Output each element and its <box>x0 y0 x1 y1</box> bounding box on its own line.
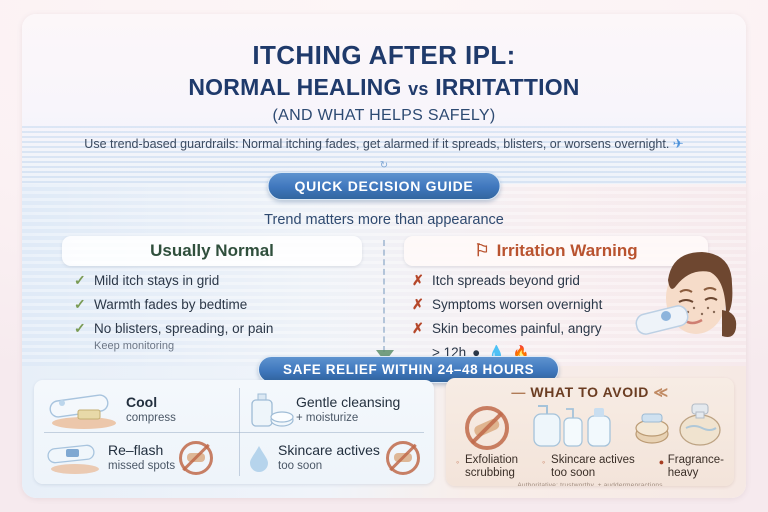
title-line-2: NORMAL HEALING vs IRRITATTION <box>22 74 746 101</box>
perfume-bottle-icon <box>672 398 728 453</box>
avoid-item-line1: Exfoliation <box>465 454 518 466</box>
cross-icon: ✗ <box>412 272 432 289</box>
check-icon: ✓ <box>74 320 94 337</box>
quick-decision-section: QUICK DECISION GUIDE Trend matters more … <box>22 184 746 366</box>
relief-cell-sub: missed spots <box>108 458 175 474</box>
relief-cell-sub: compress <box>126 410 176 426</box>
infographic-canvas: ITCHING AFTER IPL: NORMAL HEALING vs IRR… <box>0 0 768 512</box>
hero-section: ITCHING AFTER IPL: NORMAL HEALING vs IRR… <box>22 14 746 184</box>
list-item-label: Symptoms worsen overnight <box>432 296 602 313</box>
relief-cell-gentle-cleansing: Gentle cleansing + moisturize <box>246 390 430 430</box>
avoid-item-line2: too soon <box>551 467 595 479</box>
avoid-item-label: Exfoliation scrubbing <box>465 454 518 480</box>
title-line-2-main: NORMAL HEALING <box>188 74 401 100</box>
avoid-item: ◦ Skincare actives too soon <box>542 454 635 480</box>
column-divider <box>383 240 385 352</box>
panel-h-divider <box>44 432 424 433</box>
what-to-avoid-heading: WHAT TO AVOID <box>530 384 649 400</box>
title-line-2-vs: vs <box>408 79 428 99</box>
relief-cell-title: Re–flash <box>108 442 163 458</box>
panel-v-divider <box>239 388 240 476</box>
pump-bottles-icon <box>528 400 626 459</box>
bottle-jar-icon <box>246 390 296 430</box>
usually-normal-list: ✓ Mild itch stays in grid ✓ Warmth fades… <box>74 272 374 352</box>
relief-cell-label: Re–flash missed spots <box>108 442 175 474</box>
relief-cell-title: Cool <box>126 394 157 410</box>
usually-normal-note: Keep monitoring <box>94 340 374 352</box>
relief-cell-sub: too soon <box>278 458 380 474</box>
list-item-label: Mild itch stays in grid <box>94 272 219 289</box>
cross-icon: ✗ <box>412 320 432 337</box>
avoid-item-line1: Fragrance- <box>668 454 724 466</box>
check-icon: ✓ <box>74 272 94 289</box>
airplane-icon: ✈ <box>673 136 684 151</box>
avoid-item-label: Skincare actives too soon <box>551 454 635 480</box>
ice-roller-icon <box>42 390 126 430</box>
list-item-label: Itch spreads beyond grid <box>432 272 580 289</box>
irritation-warning-heading: Irritation Warning <box>497 241 638 261</box>
title-line-1: ITCHING AFTER IPL: <box>22 40 746 71</box>
relief-cell-cool-compress: Cool compress <box>42 390 238 430</box>
list-item: ✓ Mild itch stays in grid <box>74 272 374 289</box>
list-item: ✓ Warmth fades by bedtime <box>74 296 374 313</box>
list-item: ✓ No blisters, spreading, or pain <box>74 320 374 337</box>
header-dash: — <box>511 384 526 400</box>
subtitle-text: Use trend-based guardrails: Normal itchi… <box>84 137 669 151</box>
avoid-item: ◦ Exfoliation scrubbing <box>456 454 518 480</box>
list-item-label: Warmth fades by bedtime <box>94 296 247 313</box>
quick-decision-tagline: Trend matters more than appearance <box>22 212 746 228</box>
subtitle: Use trend-based guardrails: Normal itchi… <box>82 134 686 176</box>
avoid-item-line1: Skincare actives <box>551 454 635 466</box>
cross-icon: ✗ <box>412 296 432 313</box>
avoid-item-line2: scrubbing <box>465 467 515 479</box>
infographic-card: ITCHING AFTER IPL: NORMAL HEALING vs IRR… <box>22 14 746 498</box>
ipl-device-icon <box>42 439 108 477</box>
relief-and-avoid-section: SAFE RELIEF WITHIN 24–48 HOURS Cool comp… <box>22 366 746 498</box>
relief-cell-title: Gentle cleansing <box>296 394 400 410</box>
relief-cell-label: Skincare actives too soon <box>278 442 380 474</box>
avoid-items-row: ◦ Exfoliation scrubbing ◦ Skincare activ… <box>452 454 728 480</box>
bullet-icon: ◦ <box>456 456 465 469</box>
rotate-icon: ↻ <box>380 160 388 171</box>
warning-person-icon: ⚐ <box>474 241 489 261</box>
list-item-label: Skin becomes painful, angry <box>432 320 602 337</box>
bullet-icon: ● <box>659 456 668 469</box>
avoid-fineprint: Authoritative: trustworthy, + auddermenr… <box>446 482 734 486</box>
list-item-label: No blisters, spreading, or pain <box>94 320 273 337</box>
relief-cell-skincare-actives: Skincare actives too soon <box>246 438 430 478</box>
jar-icon <box>632 402 672 451</box>
relief-cell-label: Gentle cleansing + moisturize <box>296 394 400 426</box>
no-scrub-icon <box>460 404 514 457</box>
relief-cell-reflash: Re–flash missed spots <box>42 438 238 478</box>
usually-normal-header: Usually Normal <box>62 236 362 266</box>
prohibited-icon <box>386 441 420 475</box>
avoid-item: ● Fragrance- heavy <box>659 454 724 480</box>
what-to-avoid-panel: — WHAT TO AVOID ≪ <box>446 378 734 486</box>
avoid-item-line2: heavy <box>668 467 699 479</box>
relief-cell-sub: + moisturize <box>296 410 400 426</box>
usually-normal-heading: Usually Normal <box>150 241 274 261</box>
safe-relief-panel: Cool compress Gentle cleansing + moistur… <box>34 380 434 484</box>
relief-cell-title: Skincare actives <box>278 442 380 458</box>
avoid-item-label: Fragrance- heavy <box>668 454 724 480</box>
chevron-left-icon: ≪ <box>653 384 668 400</box>
relief-cell-label: Cool compress <box>126 394 176 426</box>
title-line-2-tail: IRRITATTION <box>435 74 579 100</box>
bullet-icon: ◦ <box>542 456 551 469</box>
check-icon: ✓ <box>74 296 94 313</box>
title-line-3: (AND WHAT HELPS SAFELY) <box>22 107 746 125</box>
face-illustration <box>622 246 740 356</box>
prohibited-icon <box>179 441 213 475</box>
quick-decision-pill: QUICK DECISION GUIDE <box>268 172 501 200</box>
droplet-icon <box>246 442 272 474</box>
